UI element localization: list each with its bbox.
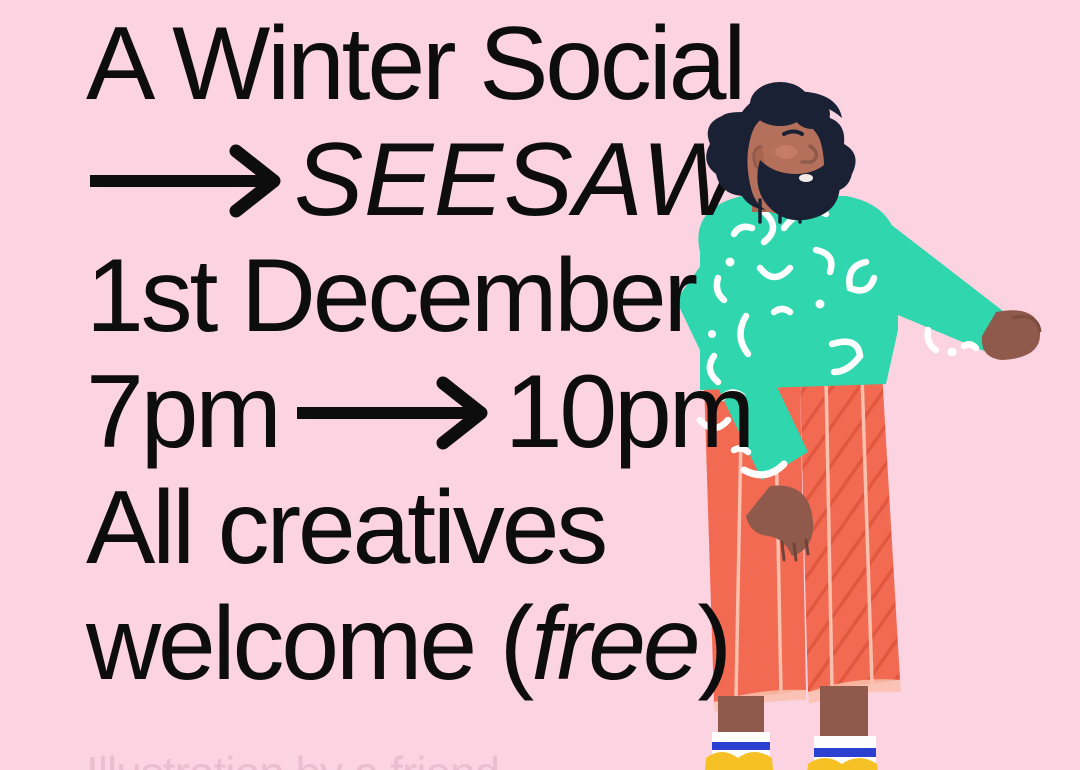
- long-right-arrow-icon: [86, 143, 294, 217]
- right-hand-extended: [982, 310, 1040, 360]
- headline-line-2: SEESAW: [86, 122, 752, 238]
- headline-title: A Winter Social: [86, 12, 743, 116]
- hair-bun-side: [794, 99, 830, 129]
- right-foot: [806, 686, 879, 770]
- hair-bun: [750, 82, 810, 126]
- free-emphasis: free: [531, 592, 697, 696]
- headline-line-5: All creatives: [86, 470, 752, 586]
- headline-line-3: 1st December: [86, 238, 752, 354]
- poster-text-block: A Winter Social SEESAW 1st December 7pm: [86, 6, 752, 702]
- headline-line-6: welcome ( free ): [86, 586, 752, 702]
- lip-highlight: [799, 174, 813, 182]
- ear: [754, 146, 766, 170]
- event-end-time: 10pm: [505, 360, 752, 464]
- welcome-prefix: welcome (: [86, 592, 531, 696]
- welcome-suffix: ): [698, 592, 729, 696]
- event-date: 1st December: [86, 244, 695, 348]
- neck: [752, 170, 806, 212]
- face: [747, 117, 824, 214]
- headline-line-1: A Winter Social: [86, 6, 752, 122]
- bottom-cutoff-caption: Illustration by a friend: [86, 746, 499, 770]
- brand-name: SEESAW: [294, 128, 740, 232]
- event-start-time: 7pm: [86, 360, 279, 464]
- eye: [784, 132, 802, 135]
- audience-line: All creatives: [86, 476, 605, 580]
- trousers-right-leg: [800, 372, 901, 704]
- collar-ribbing: [760, 200, 800, 222]
- left-hand-down: [746, 486, 813, 560]
- headline-line-4: 7pm 10pm: [86, 354, 752, 470]
- cheek: [775, 145, 797, 159]
- hair-fringe: [752, 91, 842, 122]
- nose: [802, 146, 817, 162]
- poster-canvas: A Winter Social SEESAW 1st December 7pm: [0, 0, 1080, 770]
- left-foot: [704, 696, 774, 770]
- long-right-arrow-icon: [279, 375, 505, 449]
- beard: [757, 160, 840, 220]
